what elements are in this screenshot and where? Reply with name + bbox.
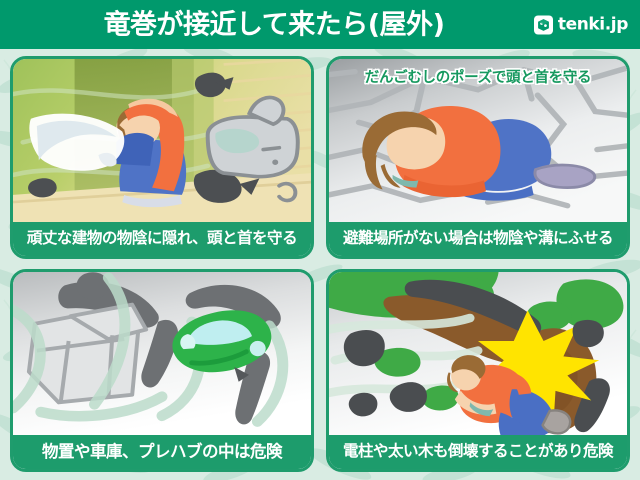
panel-grid: 頑丈な建物の物陰に隠れ、頭と首を守る — [10, 56, 630, 472]
panel-1-caption: 頑丈な建物の物陰に隠れ、頭と首を守る — [13, 222, 311, 256]
page-header: 竜巻が接近して来たら(屋外) tenki.jp — [0, 0, 640, 49]
panel-4-illustration — [329, 272, 627, 435]
infographic-page: 竜巻が接近して来たら(屋外) tenki.jp — [0, 0, 640, 480]
panel-shelter-behind-building[interactable]: 頑丈な建物の物陰に隠れ、頭と首を守る — [10, 56, 314, 259]
panel-shed-garage-danger[interactable]: 物置や車庫、プレハブの中は危険 — [10, 269, 314, 472]
panel-2-caption: 避難場所がない場合は物陰や溝にふせる — [329, 222, 627, 256]
tenki-logo[interactable]: tenki.jp — [534, 15, 628, 34]
panel-2-overlay-note: だんごむしのポーズで頭と首を守る — [329, 71, 627, 86]
tenki-cube-icon — [534, 15, 553, 34]
panel-poles-trees-danger[interactable]: 電柱や太い木も倒壊することがあり危険 — [326, 269, 630, 472]
panel-1-illustration — [13, 59, 311, 222]
panel-3-illustration — [13, 272, 311, 435]
panel-dangomushi-pose[interactable]: だんごむしのポーズで頭と首を守る 避難場所がない場合は物陰や溝にふせる — [326, 56, 630, 259]
panel-4-caption: 電柱や太い木も倒壊することがあり危険 — [329, 435, 627, 469]
panel-3-caption: 物置や車庫、プレハブの中は危険 — [13, 435, 311, 469]
tenki-logo-text: tenki.jp — [558, 16, 628, 33]
